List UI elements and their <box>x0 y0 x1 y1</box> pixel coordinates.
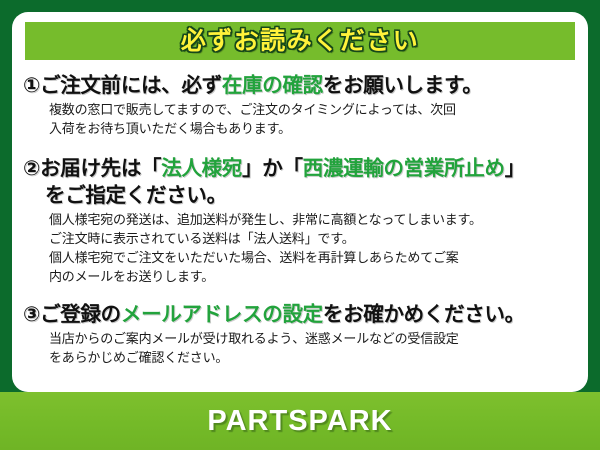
notice-item-2-body: 個人様宅宛の発送は、追加送料が発生し、非常に高額となってしまいます。 ご注文時に… <box>23 211 579 287</box>
notice-item-2-heading-mid: 」か「 <box>242 157 303 180</box>
notice-item-2: ②お届け先は「法人様宛」か「西濃運輸の営業所止め」をご指定ください。 個人様宅宛… <box>23 155 579 287</box>
notice-item-3-body: 当店からのご案内メールが受け取れるよう、迷惑メールなどの受信設定 をあらかじめご… <box>23 330 579 368</box>
notice-item-1-marker: ① <box>23 74 40 97</box>
notice-item-1-heading-post: をお願いします。 <box>323 74 483 97</box>
notice-item-3-heading: ③ご登録のメールアドレスの設定をお確かめください。 <box>23 301 579 328</box>
notice-item-2-marker: ② <box>23 157 40 180</box>
notice-item-3-marker: ③ <box>23 303 40 326</box>
footer-brand-bar: PARTSPARK <box>0 392 600 450</box>
brand-name: PARTSPARK <box>207 405 392 438</box>
notice-item-1-body: 複数の窓口で販売してますので、ご注文のタイミングによっては、次回 入荷をお待ち頂… <box>23 101 579 139</box>
banner-title: 必ずお読みください <box>181 29 420 54</box>
notice-item-2-heading: ②お届け先は「法人様宛」か「西濃運輸の営業所止め」をご指定ください。 <box>23 155 579 209</box>
notice-items-list: ①ご注文前には、必ず在庫の確認をお願いします。 複数の窓口で販売してますので、ご… <box>12 66 588 392</box>
notice-item-2-heading-highlight-2: 西濃運輸の営業所止め <box>303 157 505 180</box>
notice-item-3: ③ご登録のメールアドレスの設定をお確かめください。 当店からのご案内メールが受け… <box>23 301 579 368</box>
notice-item-2-heading-highlight: 法人様宛 <box>161 157 242 180</box>
notice-item-2-heading-post: 」 <box>505 157 525 180</box>
banner: 必ずお読みください <box>25 22 575 60</box>
notice-card: 必ずお読みください ①ご注文前には、必ず在庫の確認をお願いします。 複数の窓口で… <box>0 0 600 450</box>
notice-item-1-heading-highlight: 在庫の確認 <box>222 74 323 97</box>
white-panel: 必ずお読みください ①ご注文前には、必ず在庫の確認をお願いします。 複数の窓口で… <box>12 12 588 392</box>
notice-item-1-heading-pre: ご注文前には、必ず <box>40 74 222 97</box>
notice-item-3-heading-highlight: メールアドレスの設定 <box>121 303 323 326</box>
notice-item-2-heading-pre: お届け先は「 <box>40 157 161 180</box>
notice-item-2-heading-line-2: をご指定ください。 <box>23 182 579 209</box>
notice-item-1-heading: ①ご注文前には、必ず在庫の確認をお願いします。 <box>23 72 579 99</box>
notice-item-3-heading-pre: ご登録の <box>40 303 121 326</box>
notice-item-3-heading-post: をお確かめください。 <box>323 303 525 326</box>
notice-item-1: ①ご注文前には、必ず在庫の確認をお願いします。 複数の窓口で販売してますので、ご… <box>23 72 579 139</box>
